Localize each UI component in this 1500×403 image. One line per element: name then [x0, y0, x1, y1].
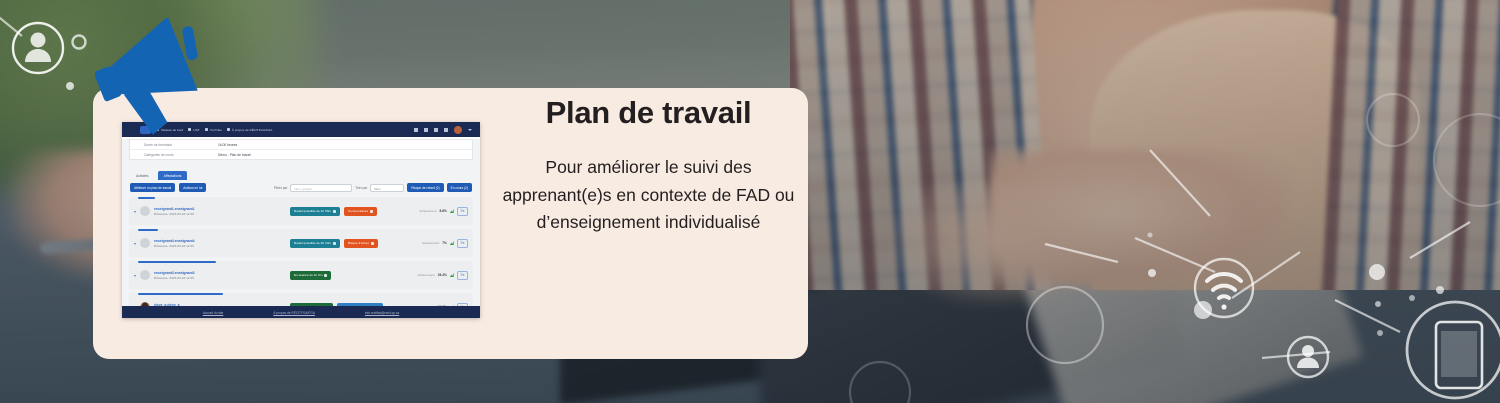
- actions-toolbar: Attribuer un plan de travail Actions en …: [130, 183, 472, 192]
- footer-link-about[interactable]: À propos de RÉCITFGA/FGA: [273, 311, 315, 315]
- progress-bar: [138, 229, 158, 231]
- info-value: Démo - Plan de travail: [218, 153, 251, 157]
- table-row[interactable]: ▾enseignant3.enseignant3Échéance: 2023-0…: [129, 261, 473, 289]
- achievement-value: 7%: [442, 241, 447, 245]
- status-badge[interactable]: Retard possible de 2h 10m: [290, 239, 340, 248]
- learner-name[interactable]: enseignant3.enseignant3: [154, 271, 272, 275]
- row-menu-button[interactable]: ☰▾: [457, 207, 468, 216]
- filter-group: Filtrer par Nom, groupe... Trier par Nom…: [274, 183, 472, 192]
- chevron-down-icon[interactable]: ▾: [134, 209, 136, 214]
- page-subtitle: Pour améliorer le suivi des apprenant(e)…: [497, 154, 800, 237]
- app-footer: Accueil du site À propos de RÉCITFGA/FGA…: [122, 306, 480, 318]
- tab-affectations[interactable]: Affectations: [158, 171, 188, 180]
- trend-chart-icon: [450, 241, 454, 245]
- navbar-actions: [414, 126, 476, 134]
- trend-chart-icon: [450, 209, 454, 213]
- tab-activites[interactable]: Activités: [132, 172, 153, 180]
- learner-name[interactable]: enseignant4.enseignant4: [154, 239, 272, 243]
- achievement-value: 29.4%: [438, 273, 447, 277]
- footer-link-home[interactable]: Accueil du site: [203, 311, 224, 315]
- chevron-down-icon[interactable]: ▾: [134, 241, 136, 246]
- assign-plan-button[interactable]: Attribuer un plan de travail: [130, 183, 175, 192]
- bulk-actions-button[interactable]: Actions en lot: [179, 183, 206, 192]
- info-row: Catégories de cours Démo - Plan de trava…: [130, 150, 472, 159]
- info-value: 16.00 heures: [218, 143, 237, 147]
- table-row[interactable]: ▾enseignant4.enseignant4Échéance: 2023-0…: [129, 229, 473, 257]
- achievement-group: Achèvement29.4%☰▾: [418, 271, 468, 280]
- badge-icon: [324, 274, 327, 277]
- progress-bar: [138, 197, 155, 199]
- wrench-icon[interactable]: [444, 128, 448, 132]
- nav-label: À propos de RÉCITFGA/FGA: [232, 128, 272, 132]
- app-screenshot-preview: Tableau de bord LIST YouTube À propos de…: [122, 122, 480, 318]
- status-badges: En avance de 1h 6m: [290, 271, 331, 280]
- learner-name[interactable]: enseignant1.enseignant1: [154, 207, 272, 211]
- badge-icon: [333, 242, 336, 245]
- status-badge[interactable]: Commentaires: [344, 207, 377, 216]
- progress-bar: [138, 261, 216, 263]
- sort-label: Trier par: [355, 186, 367, 190]
- tab-bar: Activités Affectations: [132, 171, 480, 180]
- info-icon: [227, 128, 230, 131]
- row-menu-button[interactable]: ☰▾: [457, 271, 468, 280]
- badge-icon: [371, 242, 374, 245]
- trend-chart-icon: [450, 273, 454, 277]
- chevron-down-icon[interactable]: [468, 129, 472, 131]
- badge-icon: [370, 210, 373, 213]
- search-input[interactable]: Nom, groupe...: [290, 184, 352, 192]
- progress-bar: [138, 293, 223, 295]
- page-title: Plan de travail: [497, 96, 800, 130]
- status-badge-label: Retard possible de 1h 53m: [294, 209, 331, 213]
- app-body: Durée de formation 16.00 heures Catégori…: [122, 139, 480, 318]
- status-badge-label: En avance de 1h 6m: [294, 273, 322, 277]
- achievement-label: Achèvement: [419, 209, 436, 213]
- filter-pill-late[interactable]: Risque de retard (2): [407, 183, 443, 192]
- sort-select[interactable]: Nom: [370, 184, 404, 192]
- info-label: Catégories de cours: [130, 153, 218, 157]
- status-badges: Retard possible de 2h 10mRisque d’échec: [290, 239, 378, 248]
- info-label: Durée de formation: [130, 143, 218, 147]
- badge-icon: [333, 210, 336, 213]
- achievement-label: Achèvement: [418, 273, 435, 277]
- avatar: [140, 238, 150, 248]
- learner-info: enseignant4.enseignant4Échéance: 2023-03…: [154, 239, 272, 248]
- achievement-group: Achèvement8.8%☰▾: [419, 207, 468, 216]
- nav-item-about[interactable]: À propos de RÉCITFGA/FGA: [227, 128, 272, 132]
- status-badge[interactable]: Risque d’échec: [344, 239, 378, 248]
- table-row[interactable]: ▾enseignant1.enseignant1Échéance: 2023-0…: [129, 197, 473, 225]
- chat-icon[interactable]: [424, 128, 428, 132]
- avatar: [140, 206, 150, 216]
- filter-pill-current[interactable]: En cours (2): [447, 183, 472, 192]
- megaphone-icon: [95, 18, 225, 143]
- status-badges: Retard possible de 1h 53mCommentaires: [290, 207, 377, 216]
- status-badge-label: Commentaires: [348, 209, 368, 213]
- row-menu-button[interactable]: ☰▾: [457, 239, 468, 248]
- due-date: Échéance: 2023-03-04 12:45: [154, 276, 272, 280]
- achievement-group: Achèvement7%☰▾: [422, 239, 468, 248]
- learner-info: enseignant3.enseignant3Échéance: 2023-03…: [154, 271, 272, 280]
- due-date: Échéance: 2023-03-04 12:45: [154, 244, 272, 248]
- due-date: Échéance: 2023-03-04 12:45: [154, 212, 272, 216]
- status-badge-label: Risque d’échec: [348, 241, 369, 245]
- learner-info: enseignant1.enseignant1Échéance: 2023-03…: [154, 207, 272, 216]
- status-badge-label: Retard possible de 2h 10m: [294, 241, 331, 245]
- footer-link-email[interactable]: info.recitfad@recit.qc.ca: [365, 311, 399, 315]
- achievement-value: 8.8%: [440, 209, 447, 213]
- chart-icon[interactable]: [434, 128, 438, 132]
- status-badge[interactable]: En avance de 1h 6m: [290, 271, 331, 280]
- filter-label: Filtrer par: [274, 186, 288, 190]
- achievement-label: Achèvement: [422, 241, 439, 245]
- bell-icon[interactable]: [414, 128, 418, 132]
- banner-text-block: Plan de travail Pour améliorer le suivi …: [497, 96, 800, 237]
- status-badge[interactable]: Retard possible de 1h 53m: [290, 207, 340, 216]
- user-avatar[interactable]: [454, 126, 462, 134]
- chevron-down-icon[interactable]: ▾: [134, 273, 136, 278]
- affectations-list: ▾enseignant1.enseignant1Échéance: 2023-0…: [129, 197, 473, 318]
- avatar: [140, 270, 150, 280]
